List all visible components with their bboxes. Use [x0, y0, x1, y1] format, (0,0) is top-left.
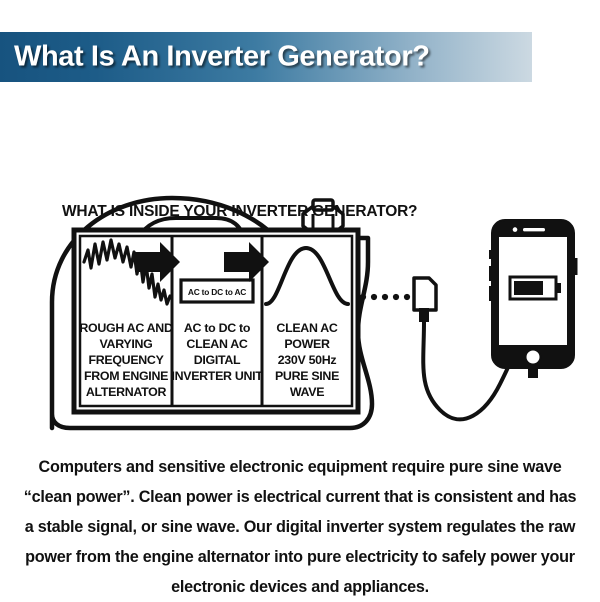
description-paragraph: Computers and sensitive electronic equip…	[22, 452, 578, 602]
smartphone-device	[489, 220, 578, 378]
svg-text:FROM ENGINE: FROM ENGINE	[84, 369, 168, 383]
svg-text:INVERTER UNIT: INVERTER UNIT	[171, 369, 263, 383]
svg-text:230V 50Hz: 230V 50Hz	[278, 353, 337, 367]
description-text: Computers and sensitive electronic equip…	[22, 452, 578, 602]
svg-text:VARYING: VARYING	[100, 337, 153, 351]
battery-icon	[510, 277, 561, 299]
svg-text:ROUGH AC AND: ROUGH AC AND	[79, 321, 173, 335]
svg-text:ALTERNATOR: ALTERNATOR	[86, 385, 167, 399]
header-banner: What Is An Inverter Generator?	[0, 32, 532, 82]
illustration-canvas: WHAT IS INSIDE YOUR INVERTER GENERATOR? …	[0, 92, 600, 442]
svg-text:CLEAN AC: CLEAN AC	[276, 321, 338, 335]
svg-text:AC to DC to: AC to DC to	[184, 321, 251, 335]
svg-text:WAVE: WAVE	[290, 385, 324, 399]
svg-text:CLEAN AC: CLEAN AC	[186, 337, 248, 351]
inverter-chip: AC to DC to AC	[181, 280, 253, 302]
svg-text:POWER: POWER	[284, 337, 330, 351]
svg-text:AC to DC to AC: AC to DC to AC	[188, 287, 246, 297]
diagram-title: WHAT IS INSIDE YOUR INVERTER GENERATOR?	[62, 203, 417, 220]
page-title: What Is An Inverter Generator?	[14, 41, 430, 74]
svg-text:DIGITAL: DIGITAL	[194, 353, 241, 367]
svg-text:PURE SINE: PURE SINE	[275, 369, 339, 383]
power-flow-dots	[360, 294, 410, 300]
panel1-label: ROUGH AC AND VARYING FREQUENCY FROM ENGI…	[79, 321, 173, 399]
svg-text:FREQUENCY: FREQUENCY	[88, 353, 164, 367]
charging-plug-icon	[414, 278, 436, 322]
inverter-generator-illustration: WHAT IS INSIDE YOUR INVERTER GENERATOR? …	[0, 92, 600, 442]
